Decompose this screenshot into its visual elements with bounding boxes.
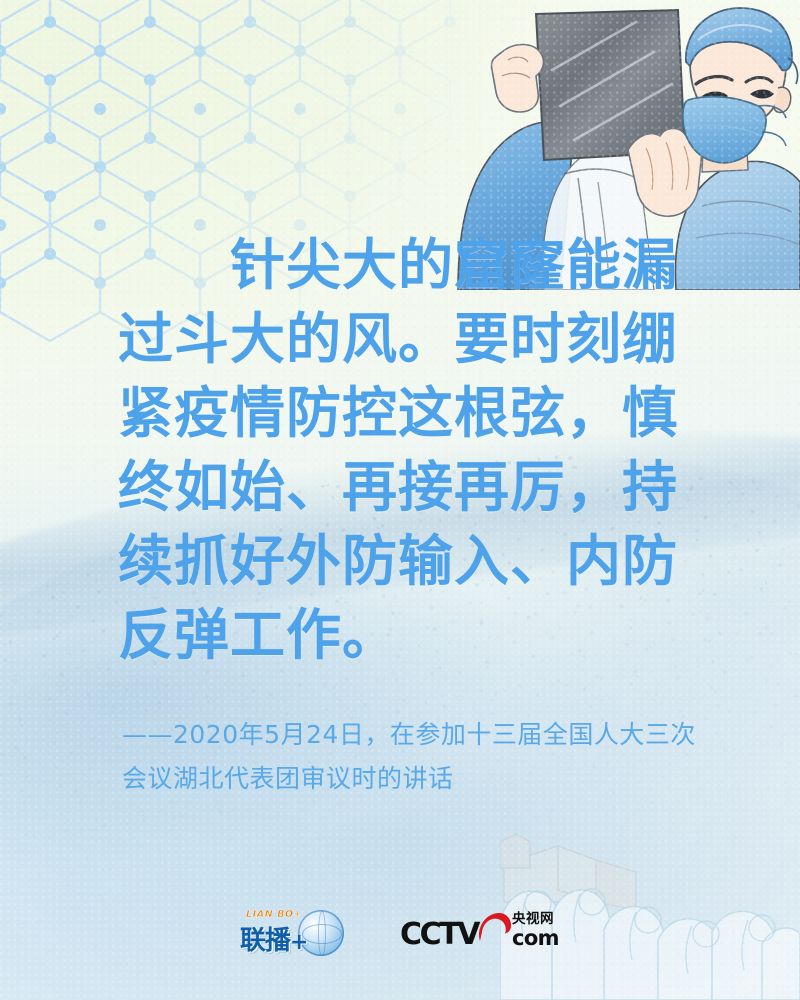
cctv-dotcom: com: [512, 928, 559, 949]
lianbo-pinyin: LIAN BO+: [246, 909, 302, 920]
red-swoosh-icon: [476, 910, 512, 946]
lianbo-chinese: 联播+: [240, 920, 307, 957]
medical-workers-crowd-illustration: [500, 790, 800, 1000]
lianbo-pinyin-plus: +: [294, 909, 303, 920]
quote-text: 针尖大的窟窿能漏过斗大的风。要时刻绷紧疫情防控这根弦，慎终如始、再接再厉，持续抓…: [118, 228, 718, 672]
cctv-com-logo[interactable]: CCTV 央视网 com: [400, 909, 560, 957]
lianbo-plus-sign: +: [290, 930, 307, 955]
poster-canvas: 针尖大的窟窿能漏过斗大的风。要时刻绷紧疫情防控这根弦，慎终如始、再接再厉，持续抓…: [0, 0, 800, 1000]
quote-attribution: ——2020年5月24日，在参加十三届全国人大三次会议湖北代表团审议时的讲话: [122, 713, 712, 801]
footer-logos: LIAN BO+ 联播+ CCTV 央视网 com: [0, 904, 800, 962]
lianbo-pinyin-text: LIAN BO: [246, 909, 294, 920]
cctv-chinese: 央视网: [512, 913, 559, 927]
lianbo-plus-logo[interactable]: LIAN BO+ 联播+: [240, 908, 344, 958]
cctv-right-block: 央视网 com: [512, 913, 559, 949]
lianbo-chinese-text: 联播: [240, 926, 290, 956]
cctv-wordmark: CCTV: [400, 920, 478, 950]
